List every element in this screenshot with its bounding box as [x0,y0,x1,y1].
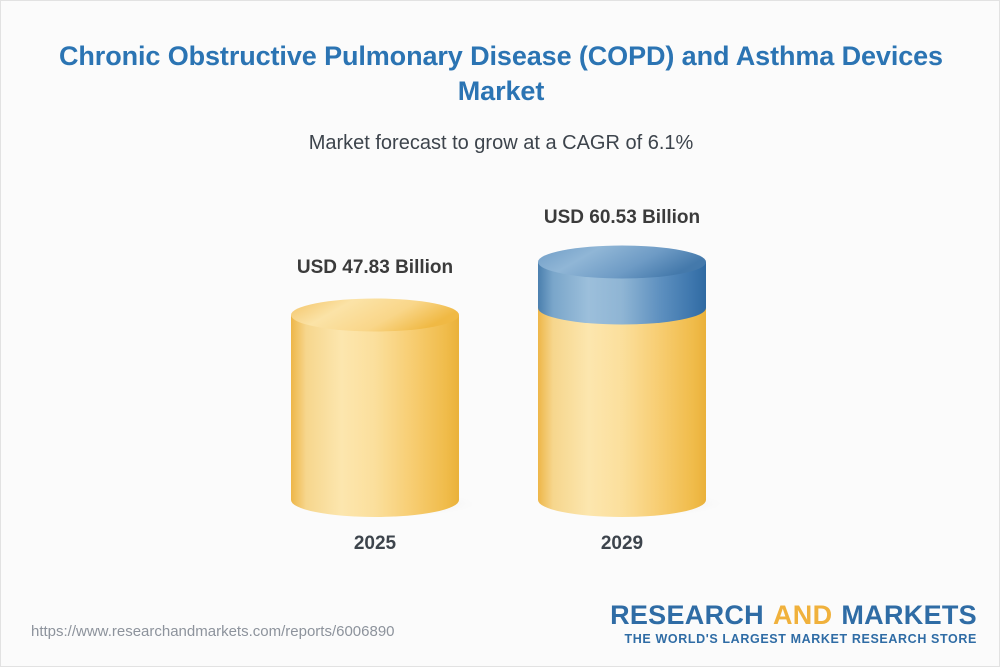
research-and-markets-logo[interactable]: RESEARCHANDMARKETS THE WORLD'S LARGEST M… [610,601,977,646]
cylinder-2025 [291,301,459,516]
cylinder-body-2025 [291,315,459,517]
logo-word-research: RESEARCH [610,600,764,630]
logo-word-and: AND [773,600,832,630]
logo-tagline: THE WORLD'S LARGEST MARKET RESEARCH STOR… [610,632,977,646]
market-forecast-chart: USD 47.83 Billion [1,1,1000,667]
cylinder-base-segment-2029 [538,308,706,517]
value-label-2025: USD 47.83 Billion [245,257,505,279]
cylinder-top-2025 [291,299,459,332]
cylinder-2029 [538,246,706,516]
logo-word-markets: MARKETS [841,600,977,630]
infographic-root: Chronic Obstructive Pulmonary Disease (C… [0,0,1000,667]
cylinder-top-2029 [538,246,706,279]
logo-wordmark: RESEARCHANDMARKETS [610,601,977,629]
value-label-2029: USD 60.53 Billion [492,207,752,229]
category-label-2029: 2029 [538,533,706,555]
category-label-2025: 2025 [291,533,459,555]
report-url[interactable]: https://www.researchandmarkets.com/repor… [31,623,395,640]
